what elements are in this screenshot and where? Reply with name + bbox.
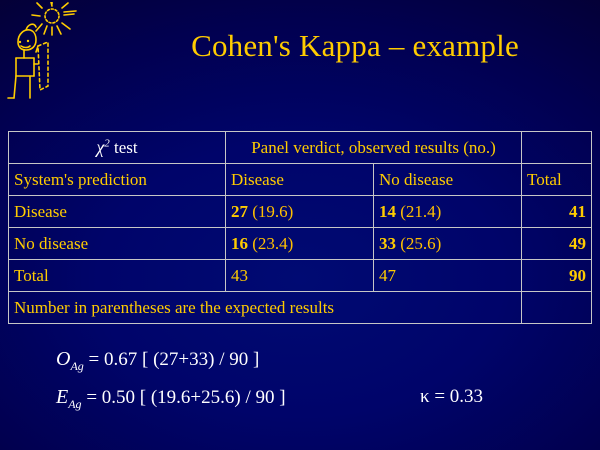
table-row-totals: Total 43 47 90 bbox=[9, 260, 592, 292]
table-row-footnote: Number in parentheses are the expected r… bbox=[9, 292, 592, 324]
observed-value: 27 bbox=[231, 202, 248, 221]
expected-value: (25.6) bbox=[400, 234, 441, 253]
table-row-header-top: χ2 test Panel verdict, observed results … bbox=[9, 132, 592, 164]
formula-symbol-E: E bbox=[56, 386, 68, 408]
panel-verdict-span-header: Panel verdict, observed results (no.) bbox=[226, 132, 522, 164]
column-header-system-prediction: System's prediction bbox=[9, 164, 226, 196]
formula-observed-agreement: OAg = 0.67 [ (27+33) / 90 ] bbox=[0, 340, 600, 378]
formula-expected-equals: = 0.50 bbox=[86, 387, 135, 408]
chi-square-test-label: χ2 test bbox=[9, 132, 226, 164]
cell-disease-nodisease: 14 (21.4) bbox=[374, 196, 522, 228]
table-row-column-headers: System's prediction Disease No disease T… bbox=[9, 164, 592, 196]
formula-subscript-ag: Ag bbox=[68, 397, 81, 411]
kappa-contingency-table: χ2 test Panel verdict, observed results … bbox=[8, 131, 592, 324]
cell-nodisease-total: 49 bbox=[522, 228, 592, 260]
expected-value: (19.6) bbox=[252, 202, 293, 221]
cell-nodisease-disease: 16 (23.4) bbox=[226, 228, 374, 260]
formula-expected-agreement: EAg = 0.50 [ (19.6+25.6) / 90 ] κ = 0.33 bbox=[0, 378, 600, 416]
observed-value: 33 bbox=[379, 234, 396, 253]
expected-value: (21.4) bbox=[400, 202, 441, 221]
formula-symbol-O: O bbox=[56, 348, 70, 370]
table-row: Disease 27 (19.6) 14 (21.4) 41 bbox=[9, 196, 592, 228]
expected-value: (23.4) bbox=[252, 234, 293, 253]
table-row: No disease 16 (23.4) 33 (25.6) 49 bbox=[9, 228, 592, 260]
kappa-symbol: κ bbox=[420, 386, 430, 407]
header-top-blank-cell bbox=[522, 132, 592, 164]
formula-expected-bracket: [ (19.6+25.6) / 90 ] bbox=[140, 387, 286, 408]
row-label-disease: Disease bbox=[9, 196, 226, 228]
column-header-disease: Disease bbox=[226, 164, 374, 196]
formula-observed-bracket: [ (27+33) / 90 ] bbox=[142, 349, 259, 370]
chi-test-word: test bbox=[110, 138, 138, 157]
cell-total-nodisease: 47 bbox=[374, 260, 522, 292]
row-label-no-disease: No disease bbox=[9, 228, 226, 260]
formula-block: OAg = 0.67 [ (27+33) / 90 ] EAg = 0.50 [… bbox=[0, 340, 600, 416]
formula-observed-equals: = 0.67 bbox=[89, 349, 138, 370]
stick-figure-with-banner-and-sun-icon bbox=[4, 2, 114, 102]
row-label-total: Total bbox=[9, 260, 226, 292]
cell-nodisease-nodisease: 33 (25.6) bbox=[374, 228, 522, 260]
formula-observed-text: OAg = 0.67 [ (27+33) / 90 ] bbox=[56, 340, 259, 379]
observed-value: 14 bbox=[379, 202, 396, 221]
cell-grand-total: 90 bbox=[522, 260, 592, 292]
page-title: Cohen's Kappa – example bbox=[120, 28, 590, 64]
kappa-equals: = 0.33 bbox=[434, 386, 483, 407]
cell-disease-total: 41 bbox=[522, 196, 592, 228]
footnote-text: Number in parentheses are the expected r… bbox=[9, 292, 522, 324]
formula-kappa-value: κ = 0.33 bbox=[420, 378, 483, 416]
column-header-total: Total bbox=[522, 164, 592, 196]
observed-value: 16 bbox=[231, 234, 248, 253]
formula-subscript-ag: Ag bbox=[70, 359, 83, 373]
slide-canvas: Cohen's Kappa – example χ2 test Panel ve… bbox=[0, 0, 600, 450]
column-header-no-disease: No disease bbox=[374, 164, 522, 196]
cell-total-disease: 43 bbox=[226, 260, 374, 292]
footnote-blank-cell bbox=[522, 292, 592, 324]
cell-disease-disease: 27 (19.6) bbox=[226, 196, 374, 228]
formula-expected-text: EAg = 0.50 [ (19.6+25.6) / 90 ] bbox=[56, 378, 286, 417]
